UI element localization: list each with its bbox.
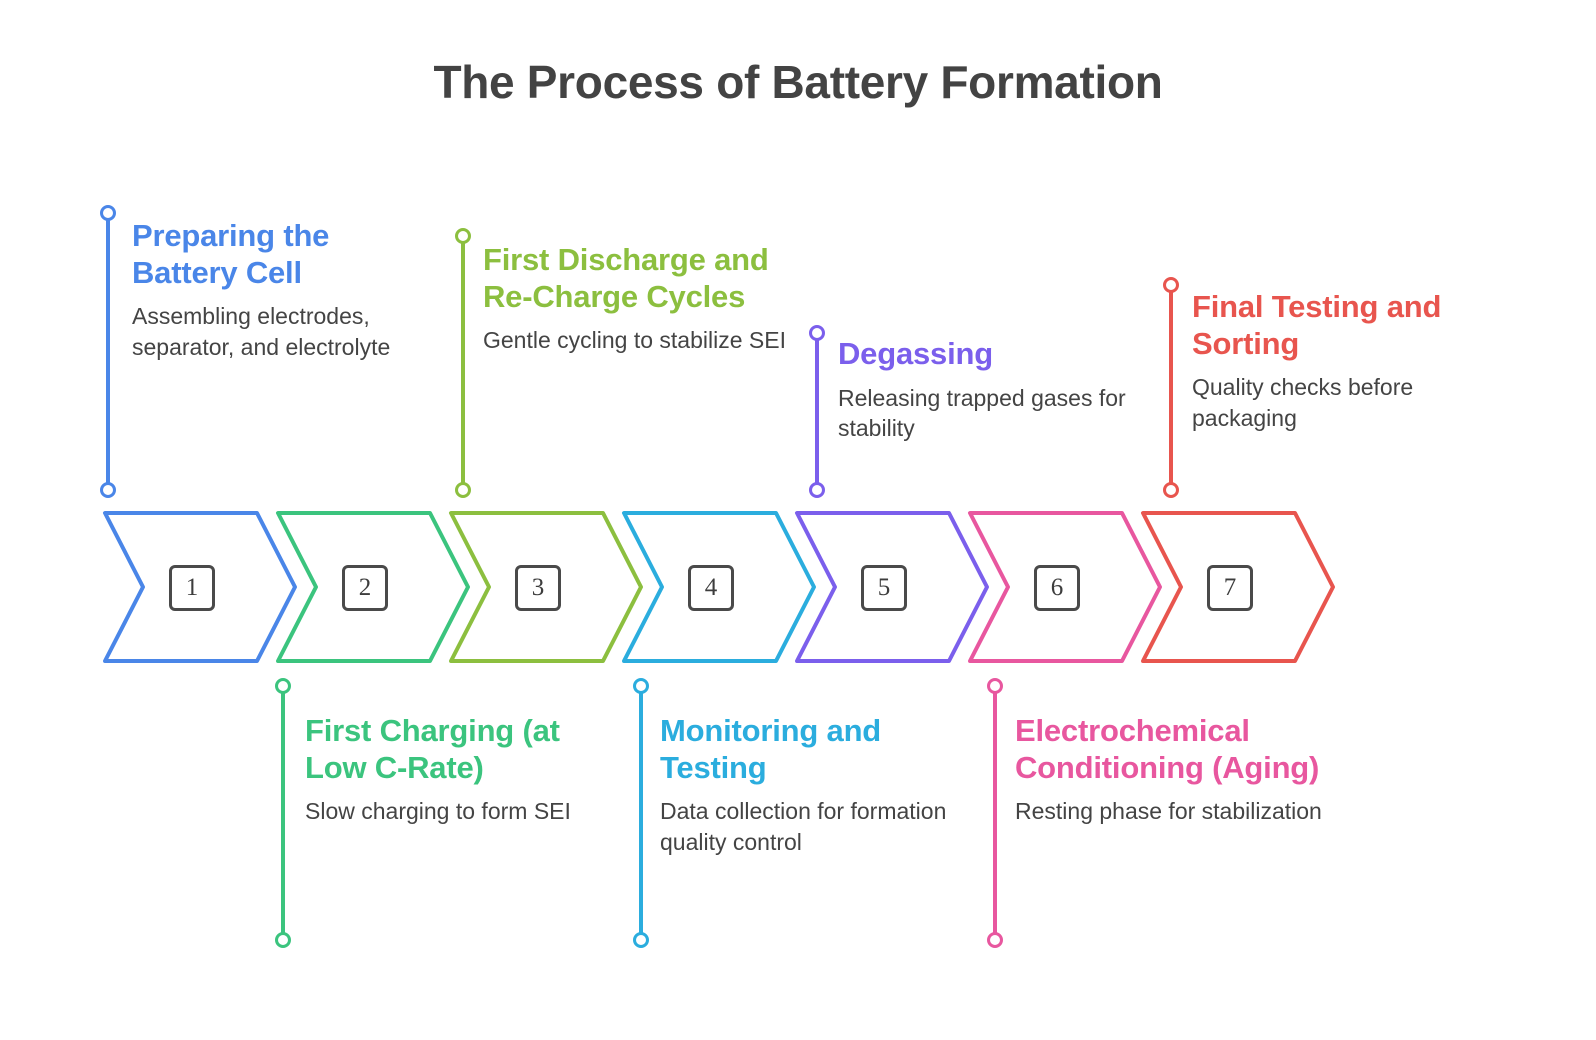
- connector-stem: [815, 330, 819, 493]
- connector-dot-bottom: [1163, 482, 1179, 498]
- connector-dot-top: [633, 678, 649, 694]
- step-number-label: 4: [705, 574, 718, 602]
- step-description-1: Assembling electrodes, separator, and el…: [132, 301, 432, 362]
- step-title-2: First Charging (at Low C-Rate): [305, 713, 605, 786]
- connector-stem: [461, 233, 465, 493]
- chevron-row: 1234567: [0, 500, 1596, 680]
- step-description-7: Quality checks before packaging: [1192, 372, 1482, 433]
- step-text-block-4: Monitoring and TestingData collection fo…: [660, 713, 960, 857]
- step-number-label: 6: [1051, 574, 1064, 602]
- step-text-block-1: Preparing the Battery CellAssembling ele…: [132, 218, 432, 362]
- step-number-box-4: 4: [688, 565, 734, 611]
- step-title-1: Preparing the Battery Cell: [132, 218, 432, 291]
- step-number-box-6: 6: [1034, 565, 1080, 611]
- connector-line-5: [806, 325, 828, 498]
- step-title-4: Monitoring and Testing: [660, 713, 960, 786]
- step-number-box-2: 2: [342, 565, 388, 611]
- connector-line-1: [97, 205, 119, 498]
- step-text-block-3: First Discharge and Re-Charge CyclesGent…: [483, 242, 788, 356]
- connector-dot-bottom: [987, 932, 1003, 948]
- step-title-7: Final Testing and Sorting: [1192, 289, 1482, 362]
- connector-line-4: [630, 678, 652, 948]
- step-number-label: 1: [186, 574, 199, 602]
- step-number-box-5: 5: [861, 565, 907, 611]
- step-number-label: 5: [878, 574, 891, 602]
- step-text-block-2: First Charging (at Low C-Rate)Slow charg…: [305, 713, 605, 827]
- connector-dot-top: [1163, 277, 1179, 293]
- step-description-4: Data collection for formation quality co…: [660, 796, 960, 857]
- step-number-label: 7: [1224, 574, 1237, 602]
- step-text-block-5: DegassingReleasing trapped gases for sta…: [838, 336, 1128, 444]
- step-text-block-6: Electrochemical Conditioning (Aging)Rest…: [1015, 713, 1345, 827]
- step-number-box-7: 7: [1207, 565, 1253, 611]
- connector-dot-bottom: [275, 932, 291, 948]
- step-number-box-3: 3: [515, 565, 561, 611]
- step-title-5: Degassing: [838, 336, 1128, 373]
- step-title-3: First Discharge and Re-Charge Cycles: [483, 242, 788, 315]
- connector-dot-top: [809, 325, 825, 341]
- step-description-3: Gentle cycling to stabilize SEI: [483, 325, 788, 356]
- step-text-block-7: Final Testing and SortingQuality checks …: [1192, 289, 1482, 433]
- connector-dot-bottom: [455, 482, 471, 498]
- connector-dot-bottom: [809, 482, 825, 498]
- connector-dot-bottom: [100, 482, 116, 498]
- step-description-2: Slow charging to form SEI: [305, 796, 605, 827]
- connector-line-6: [984, 678, 1006, 948]
- connector-dot-bottom: [633, 932, 649, 948]
- connector-stem: [639, 683, 643, 943]
- connector-dot-top: [100, 205, 116, 221]
- step-number-box-1: 1: [169, 565, 215, 611]
- step-number-label: 2: [359, 574, 372, 602]
- connector-dot-top: [987, 678, 1003, 694]
- connector-dot-top: [455, 228, 471, 244]
- connector-stem: [993, 683, 997, 943]
- connector-dot-top: [275, 678, 291, 694]
- step-number-label: 3: [532, 574, 545, 602]
- connector-line-2: [272, 678, 294, 948]
- connector-line-7: [1160, 277, 1182, 498]
- connector-line-3: [452, 228, 474, 498]
- connector-stem: [1169, 282, 1173, 493]
- connector-stem: [281, 683, 285, 943]
- step-description-6: Resting phase for stabilization: [1015, 796, 1345, 827]
- step-description-5: Releasing trapped gases for stability: [838, 383, 1128, 444]
- page-title: The Process of Battery Formation: [0, 55, 1596, 109]
- step-title-6: Electrochemical Conditioning (Aging): [1015, 713, 1345, 786]
- connector-stem: [106, 210, 110, 493]
